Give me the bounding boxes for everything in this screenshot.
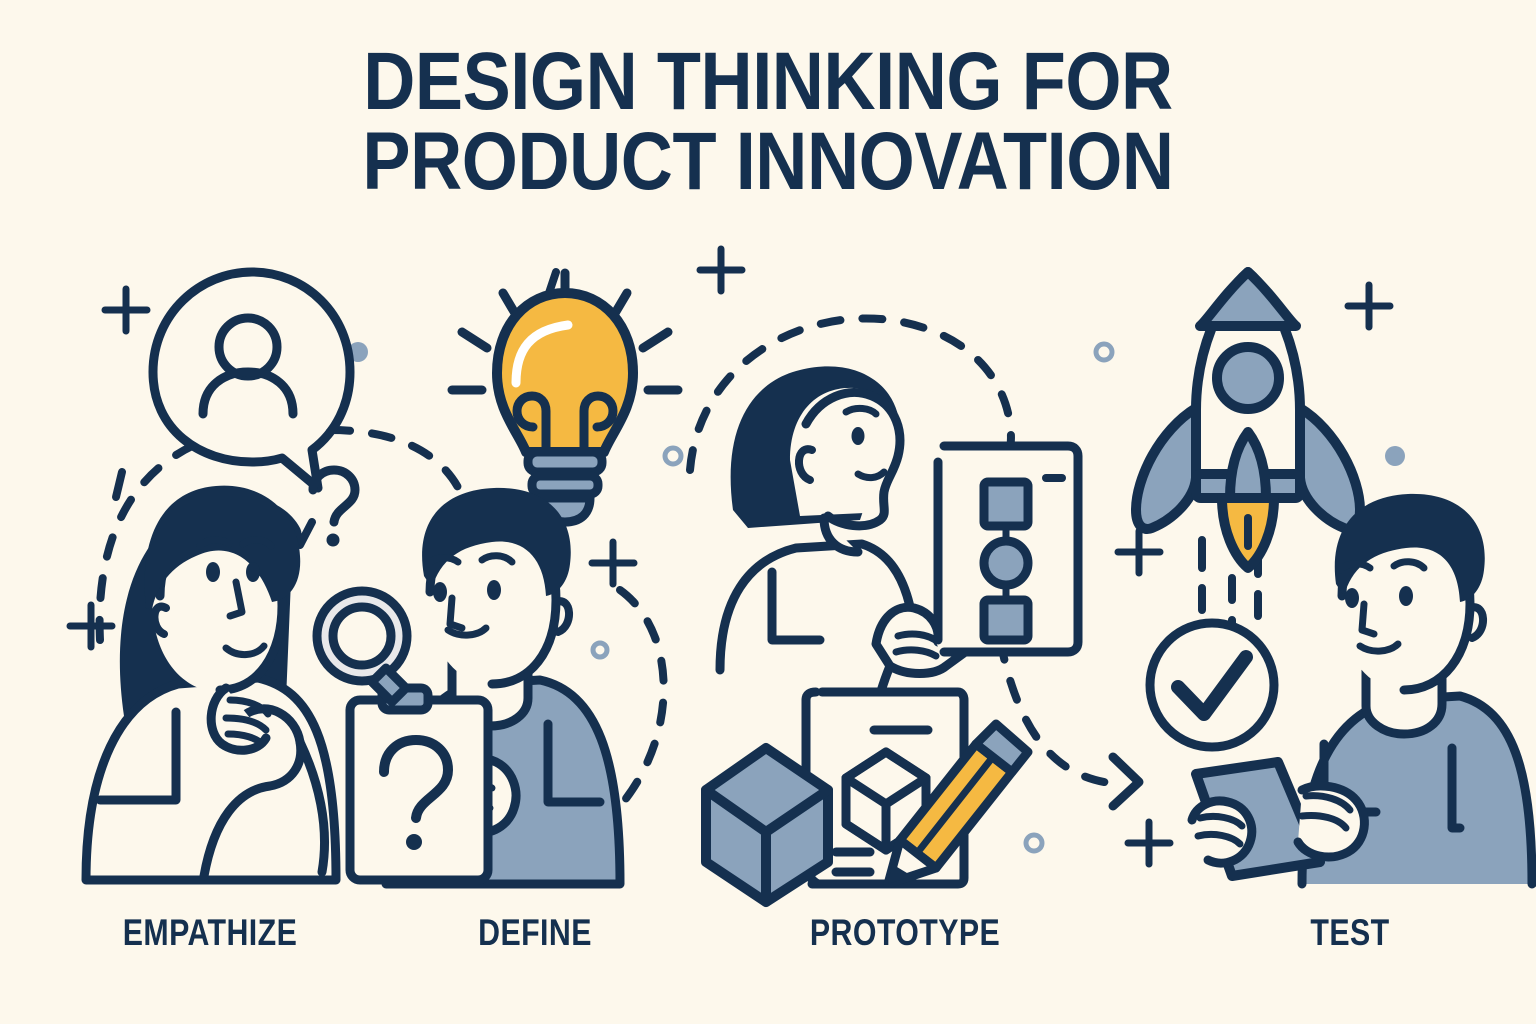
question-mark-dot	[327, 534, 340, 547]
eye	[852, 427, 865, 445]
illustration-layer	[0, 0, 1536, 1024]
magnifier-icon	[317, 591, 407, 702]
wireframe-node-square-bottom	[984, 600, 1028, 640]
eye	[487, 580, 501, 600]
eye	[1399, 586, 1413, 606]
eye	[246, 562, 260, 582]
lightbulb-icon	[452, 273, 678, 522]
stage-label-test: TEST	[1186, 912, 1514, 954]
eye	[1345, 588, 1359, 608]
eye	[206, 562, 220, 582]
design-thinking-poster: DESIGN THINKING FOR PRODUCT INNOVATION	[0, 0, 1536, 1024]
stage-label-empathize: EMPATHIZE	[71, 912, 350, 954]
thinking-woman-figure	[86, 486, 336, 880]
check-circle-icon	[1150, 623, 1274, 747]
clipboard-question-icon	[350, 688, 488, 880]
wireframe-node-square-top	[984, 482, 1028, 526]
dashed-arrow-head	[1113, 757, 1139, 806]
dot-mark	[1385, 446, 1405, 466]
wireframe-board-icon	[936, 446, 1078, 652]
rocket-icon	[1136, 272, 1360, 568]
stage-label-define: DEFINE	[412, 912, 658, 954]
stage-label-prototype: PROTOTYPE	[729, 912, 1082, 954]
eye	[433, 582, 447, 602]
question-mark-icon	[313, 470, 355, 522]
